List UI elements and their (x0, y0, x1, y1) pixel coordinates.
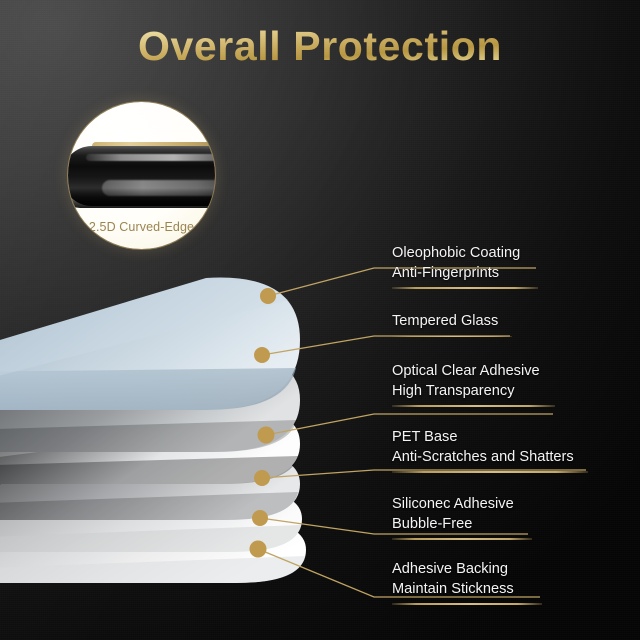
layer-label-1-title: Oleophobic Coating (392, 244, 538, 264)
leader-dot-1 (260, 288, 276, 304)
layer-label-5-underline (392, 538, 532, 540)
layer-label-3-title: Optical Clear Adhesive (392, 362, 555, 382)
leader-dot-6 (250, 541, 267, 558)
leader-dot-3 (258, 427, 275, 444)
layer-label-3-underline (392, 405, 555, 407)
layer-stack-diagram (0, 0, 640, 640)
layer-label-5-title: Siliconec Adhesive (392, 495, 532, 515)
layer-label-6-underline (392, 603, 542, 605)
layer-label-4-underline (392, 471, 588, 473)
layer-label-6: Adhesive Backing Maintain Stickness (392, 560, 542, 605)
layer-label-2: Tempered Glass (392, 312, 512, 337)
layer-label-5-subtitle: Bubble-Free (392, 515, 532, 535)
layer-label-2-underline (392, 336, 512, 338)
layer-label-5: Siliconec Adhesive Bubble-Free (392, 495, 532, 540)
layer-label-1-subtitle: Anti-Fingerprints (392, 264, 538, 284)
layer-label-4-subtitle: Anti-Scratches and Shatters (392, 448, 588, 468)
product-infographic: Overall Protection 2.5D Curved-Edge (0, 0, 640, 640)
leader-dot-2 (254, 347, 270, 363)
layer-label-1: Oleophobic Coating Anti-Fingerprints (392, 244, 538, 289)
layer-label-6-subtitle: Maintain Stickness (392, 580, 542, 600)
layer-label-3-subtitle: High Transparency (392, 382, 555, 402)
leader-dot-4 (254, 470, 270, 486)
layer-label-3: Optical Clear Adhesive High Transparency (392, 362, 555, 407)
layer-shape-1 (0, 278, 300, 410)
leader-dot-5 (252, 510, 268, 526)
layer-label-4: PET Base Anti-Scratches and Shatters (392, 428, 588, 473)
layer-label-4-title: PET Base (392, 428, 588, 448)
layer-label-1-underline (392, 287, 538, 289)
layer-label-6-title: Adhesive Backing (392, 560, 542, 580)
layer-label-2-title: Tempered Glass (392, 312, 512, 332)
